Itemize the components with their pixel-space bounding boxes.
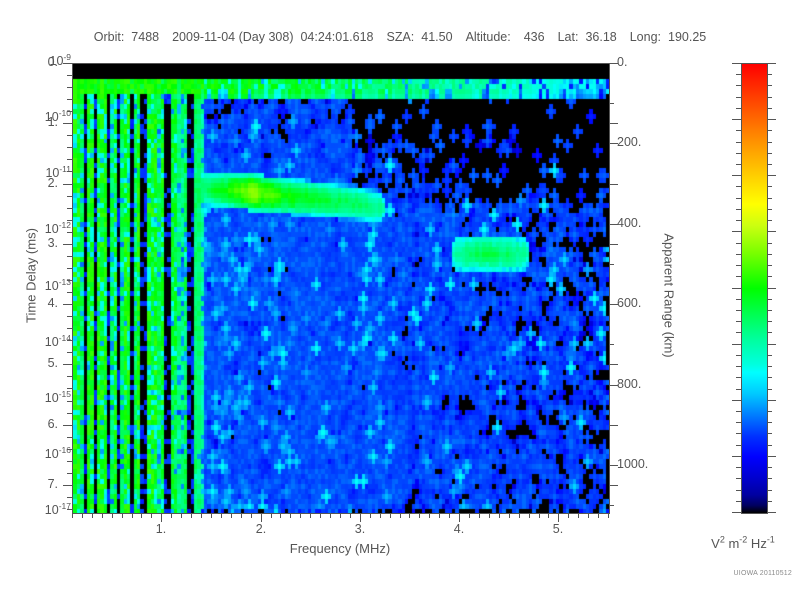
colorbar-tick-minor bbox=[736, 220, 741, 221]
colorbar-tick-minor bbox=[736, 366, 741, 367]
y-tick-major bbox=[63, 304, 72, 305]
colorbar-tick-minor bbox=[736, 186, 741, 187]
colorbar-tick-minor bbox=[767, 265, 772, 266]
colorbar-tick-minor bbox=[736, 411, 741, 412]
colorbar-label-exponent: -9 bbox=[63, 52, 71, 62]
colorbar-tick-major bbox=[732, 288, 741, 289]
colorbar-tick-major bbox=[732, 175, 741, 176]
x-tick-minor bbox=[102, 513, 103, 518]
colorbar-tick-label: 10-11 bbox=[45, 166, 71, 180]
colorbar-tick-minor bbox=[736, 142, 741, 143]
x-tick-minor bbox=[548, 513, 549, 518]
x-tick-minor bbox=[320, 513, 321, 518]
colorbar-tick-minor bbox=[767, 332, 772, 333]
x-tick-minor bbox=[529, 513, 530, 518]
y2-tick-minor bbox=[609, 184, 614, 185]
x-tick-minor bbox=[330, 513, 331, 518]
credit-text: UIOWA 20110512 bbox=[660, 570, 792, 577]
colorbar-label-mantissa: 10 bbox=[45, 503, 59, 517]
colorbar-tick-major bbox=[767, 63, 776, 64]
y2-tick-label: 200. bbox=[617, 135, 677, 149]
x-tick-minor bbox=[171, 513, 172, 518]
x-tick-label: 5. bbox=[538, 522, 578, 536]
y-tick-minor bbox=[67, 159, 72, 160]
colorbar-tick-major bbox=[767, 512, 776, 513]
colorbar-tick-minor bbox=[736, 265, 741, 266]
x-tick-minor bbox=[132, 513, 133, 518]
colorbar-tick-minor bbox=[767, 366, 772, 367]
y2-axis-minor-mirror bbox=[609, 485, 618, 486]
colorbar-tick-major bbox=[767, 344, 776, 345]
colorbar-tick-minor bbox=[736, 422, 741, 423]
colorbar-tick-minor bbox=[767, 198, 772, 199]
y2-tick-minor bbox=[609, 264, 614, 265]
colorbar-tick-minor bbox=[736, 164, 741, 165]
y-tick-label: 5. bbox=[18, 356, 58, 370]
colorbar-tick-minor bbox=[736, 74, 741, 75]
colorbar-tick-minor bbox=[767, 467, 772, 468]
y-tick-minor bbox=[67, 352, 72, 353]
x-tick-minor bbox=[598, 513, 599, 518]
y-tick-minor bbox=[67, 461, 72, 462]
colorbar-tick-minor bbox=[736, 377, 741, 378]
x-tick-minor bbox=[271, 513, 272, 518]
x-tick-minor bbox=[409, 513, 410, 518]
colorbar-tick-major bbox=[732, 231, 741, 232]
x-tick-minor bbox=[82, 513, 83, 518]
x-tick-label: 2. bbox=[241, 522, 281, 536]
colorbar-tick-minor bbox=[736, 310, 741, 311]
y2-axis-minor-mirror bbox=[609, 364, 618, 365]
y2-axis-title: Apparent Range (km) bbox=[662, 211, 677, 381]
y2-tick-minor bbox=[609, 425, 614, 426]
latitude-label: Lat: bbox=[558, 30, 579, 44]
altitude-label: Altitude: bbox=[466, 30, 511, 44]
colorbar-tick-minor bbox=[767, 389, 772, 390]
x-tick-minor bbox=[300, 513, 301, 518]
x-tick-minor bbox=[280, 513, 281, 518]
colorbar-tick-label: 10-12 bbox=[45, 222, 71, 236]
x-tick-minor bbox=[479, 513, 480, 518]
colorbar-tick-minor bbox=[767, 478, 772, 479]
x-tick-minor bbox=[568, 513, 569, 518]
y-tick-major bbox=[63, 244, 72, 245]
colorbar-tick-minor bbox=[767, 220, 772, 221]
colorbar-tick-minor bbox=[736, 355, 741, 356]
y-tick-minor bbox=[67, 208, 72, 209]
y-tick-minor bbox=[67, 75, 72, 76]
colorbar-tick-major bbox=[732, 63, 741, 64]
colorbar-tick-minor bbox=[767, 299, 772, 300]
colorbar-tick-major bbox=[732, 512, 741, 513]
colorbar-tick-minor bbox=[767, 108, 772, 109]
x-tick-minor bbox=[221, 513, 222, 518]
x-tick-minor bbox=[92, 513, 93, 518]
colorbar-tick-minor bbox=[767, 142, 772, 143]
x-tick-minor bbox=[340, 513, 341, 518]
header-info-bar: Orbit:74882009-11-04 (Day 308)04:24:01.6… bbox=[0, 30, 800, 48]
y-tick-minor bbox=[67, 99, 72, 100]
colorbar-tick-minor bbox=[767, 153, 772, 154]
x-tick-minor bbox=[290, 513, 291, 518]
colorbar-tick-minor bbox=[767, 490, 772, 491]
x-tick-minor bbox=[231, 513, 232, 518]
colorbar-tick-minor bbox=[767, 254, 772, 255]
x-tick-minor bbox=[608, 513, 609, 518]
colorbar-label-mantissa: 10 bbox=[45, 447, 59, 461]
colorbar-tick-minor bbox=[736, 243, 741, 244]
colorbar-tick-minor bbox=[767, 276, 772, 277]
x-tick-minor bbox=[380, 513, 381, 518]
units-hz-exponent: -1 bbox=[767, 535, 775, 545]
x-tick-minor bbox=[350, 513, 351, 518]
colorbar-tick-minor bbox=[767, 355, 772, 356]
y-tick-minor bbox=[67, 437, 72, 438]
x-tick-minor bbox=[390, 513, 391, 518]
x-tick-minor bbox=[191, 513, 192, 518]
y-tick-major bbox=[63, 425, 72, 426]
colorbar-label-mantissa: 10 bbox=[45, 166, 59, 180]
colorbar-label-exponent: -17 bbox=[59, 501, 71, 511]
colorbar-tick-minor bbox=[767, 74, 772, 75]
colorbar-tick-label: 10-10 bbox=[45, 110, 71, 124]
longitude-value: 190.25 bbox=[668, 30, 706, 44]
x-tick-major bbox=[459, 513, 460, 522]
x-tick-minor bbox=[122, 513, 123, 518]
y-tick-minor bbox=[67, 256, 72, 257]
x-tick-minor bbox=[588, 513, 589, 518]
x-tick-minor bbox=[489, 513, 490, 518]
y-tick-minor bbox=[67, 316, 72, 317]
x-tick-major bbox=[360, 513, 361, 522]
colorbar-tick-minor bbox=[736, 153, 741, 154]
colorbar-tick-minor bbox=[736, 198, 741, 199]
colorbar-tick-major bbox=[767, 400, 776, 401]
colorbar-label-exponent: -14 bbox=[59, 333, 71, 343]
y-tick-minor bbox=[67, 268, 72, 269]
colorbar-tick-major bbox=[767, 119, 776, 120]
y-tick-minor bbox=[67, 413, 72, 414]
x-tick-minor bbox=[141, 513, 142, 518]
colorbar-tick-label: 10-13 bbox=[45, 279, 71, 293]
x-tick-minor bbox=[469, 513, 470, 518]
colorbar-tick-label: 10-17 bbox=[45, 503, 71, 517]
observation-date: 2009-11-04 (Day 308) bbox=[172, 30, 293, 44]
x-tick-major bbox=[161, 513, 162, 522]
observation-time: 04:24:01.618 bbox=[300, 30, 373, 44]
units-v: V bbox=[711, 536, 720, 551]
colorbar-tick-minor bbox=[767, 310, 772, 311]
colorbar-label-exponent: -12 bbox=[59, 220, 71, 230]
x-tick-minor bbox=[370, 513, 371, 518]
y-tick-major bbox=[63, 364, 72, 365]
colorbar-tick-minor bbox=[736, 209, 741, 210]
colorbar-tick-minor bbox=[767, 445, 772, 446]
x-tick-major bbox=[261, 513, 262, 522]
x-tick-minor bbox=[499, 513, 500, 518]
colorbar-tick-minor bbox=[736, 490, 741, 491]
orbit-label: Orbit: bbox=[94, 30, 125, 44]
y-axis-title: Time Delay (ms) bbox=[24, 196, 39, 356]
colorbar-tick-minor bbox=[736, 445, 741, 446]
y-tick-label: 6. bbox=[18, 417, 58, 431]
y-tick-minor bbox=[67, 135, 72, 136]
colorbar-tick-minor bbox=[767, 209, 772, 210]
x-tick-minor bbox=[578, 513, 579, 518]
y-tick-minor bbox=[67, 196, 72, 197]
y-tick-minor bbox=[67, 473, 72, 474]
colorbar-label-mantissa: 10 bbox=[45, 335, 59, 349]
colorbar-tick-minor bbox=[767, 321, 772, 322]
colorbar-tick-minor bbox=[767, 186, 772, 187]
y2-tick-minor bbox=[609, 505, 614, 506]
x-tick-minor bbox=[509, 513, 510, 518]
colorbar-tick-minor bbox=[736, 389, 741, 390]
x-tick-minor bbox=[241, 513, 242, 518]
x-tick-minor bbox=[439, 513, 440, 518]
colorbar-tick-label: 10-15 bbox=[45, 391, 71, 405]
x-tick-minor bbox=[251, 513, 252, 518]
colorbar-label-exponent: -15 bbox=[59, 389, 71, 399]
sza-label: SZA: bbox=[386, 30, 414, 44]
colorbar-label-exponent: -13 bbox=[59, 277, 71, 287]
colorbar-tick-major bbox=[767, 231, 776, 232]
colorbar-tick-minor bbox=[736, 85, 741, 86]
colorbar-tick-minor bbox=[736, 276, 741, 277]
spectrogram-heatmap bbox=[73, 64, 609, 513]
longitude-label: Long: bbox=[630, 30, 661, 44]
colorbar-label-mantissa: 10 bbox=[45, 391, 59, 405]
y2-tick-minor bbox=[609, 344, 614, 345]
y-tick-minor bbox=[67, 328, 72, 329]
colorbar-label-exponent: -10 bbox=[59, 108, 71, 118]
x-tick-label: 3. bbox=[340, 522, 380, 536]
y-tick-minor bbox=[67, 376, 72, 377]
colorbar-tick-label: 10-9 bbox=[50, 54, 71, 68]
colorbar-tick-minor bbox=[736, 467, 741, 468]
y-tick-major bbox=[63, 485, 72, 486]
colorbar-tick-major bbox=[767, 175, 776, 176]
colorbar-label-mantissa: 10 bbox=[45, 279, 59, 293]
colorbar-gradient bbox=[741, 63, 768, 514]
colorbar-tick-major bbox=[732, 456, 741, 457]
y-tick-minor bbox=[67, 147, 72, 148]
y2-tick-label: 0. bbox=[617, 55, 677, 69]
y-tick-minor bbox=[67, 497, 72, 498]
y-tick-minor bbox=[67, 87, 72, 88]
colorbar-tick-minor bbox=[767, 501, 772, 502]
colorbar-tick-minor bbox=[767, 422, 772, 423]
colorbar-label-mantissa: 10 bbox=[45, 222, 59, 236]
x-tick-minor bbox=[112, 513, 113, 518]
x-tick-minor bbox=[449, 513, 450, 518]
colorbar-units-label: V2 m-2 Hz-1 bbox=[686, 536, 800, 551]
colorbar-tick-minor bbox=[736, 130, 741, 131]
colorbar-tick-minor bbox=[767, 130, 772, 131]
colorbar-label-mantissa: 10 bbox=[45, 110, 59, 124]
y-tick-label: 7. bbox=[18, 477, 58, 491]
colorbar-tick-minor bbox=[736, 478, 741, 479]
x-tick-minor bbox=[539, 513, 540, 518]
x-tick-minor bbox=[519, 513, 520, 518]
colorbar-tick-minor bbox=[767, 97, 772, 98]
x-tick-minor bbox=[429, 513, 430, 518]
x-tick-minor bbox=[310, 513, 311, 518]
x-tick-minor bbox=[72, 513, 73, 518]
colorbar-tick-minor bbox=[767, 377, 772, 378]
latitude-value: 36.18 bbox=[585, 30, 616, 44]
colorbar-tick-minor bbox=[767, 433, 772, 434]
colorbar-tick-major bbox=[732, 119, 741, 120]
colorbar-tick-major bbox=[732, 400, 741, 401]
colorbar-tick-major bbox=[767, 456, 776, 457]
x-tick-minor bbox=[151, 513, 152, 518]
ionogram-plot-area bbox=[72, 63, 610, 514]
altitude-value: 436 bbox=[524, 30, 545, 44]
colorbar-tick-minor bbox=[736, 97, 741, 98]
colorbar-tick-minor bbox=[736, 332, 741, 333]
y2-axis-minor-mirror bbox=[609, 123, 618, 124]
x-tick-label: 4. bbox=[439, 522, 479, 536]
colorbar-tick-minor bbox=[736, 321, 741, 322]
colorbar-tick-major bbox=[767, 288, 776, 289]
colorbar-tick-minor bbox=[736, 254, 741, 255]
colorbar-tick-minor bbox=[736, 299, 741, 300]
y2-tick-label: 1000. bbox=[617, 457, 677, 471]
x-axis-title: Frequency (MHz) bbox=[72, 541, 608, 556]
colorbar-label-exponent: -11 bbox=[59, 164, 71, 174]
x-tick-minor bbox=[400, 513, 401, 518]
colorbar-label-exponent: -16 bbox=[59, 445, 71, 455]
units-m: m bbox=[725, 536, 739, 551]
x-tick-minor bbox=[211, 513, 212, 518]
colorbar-tick-minor bbox=[736, 501, 741, 502]
colorbar-tick-label: 10-16 bbox=[45, 447, 71, 461]
y2-axis-minor-mirror bbox=[609, 244, 618, 245]
colorbar-tick-minor bbox=[767, 411, 772, 412]
colorbar-tick-minor bbox=[767, 164, 772, 165]
colorbar-tick-minor bbox=[767, 85, 772, 86]
x-tick-label: 1. bbox=[141, 522, 181, 536]
x-tick-major bbox=[558, 513, 559, 522]
x-tick-minor bbox=[181, 513, 182, 518]
colorbar-tick-major bbox=[732, 344, 741, 345]
colorbar-tick-label: 10-14 bbox=[45, 335, 71, 349]
orbit-value: 7488 bbox=[131, 30, 159, 44]
x-tick-minor bbox=[419, 513, 420, 518]
colorbar-tick-minor bbox=[736, 108, 741, 109]
y-tick-major bbox=[63, 184, 72, 185]
x-tick-minor bbox=[201, 513, 202, 518]
colorbar-label-mantissa: 10 bbox=[50, 54, 64, 68]
y2-tick-minor bbox=[609, 103, 614, 104]
colorbar-tick-minor bbox=[736, 433, 741, 434]
units-hz: Hz bbox=[747, 536, 767, 551]
colorbar-tick-minor bbox=[767, 243, 772, 244]
sza-value: 41.50 bbox=[421, 30, 452, 44]
